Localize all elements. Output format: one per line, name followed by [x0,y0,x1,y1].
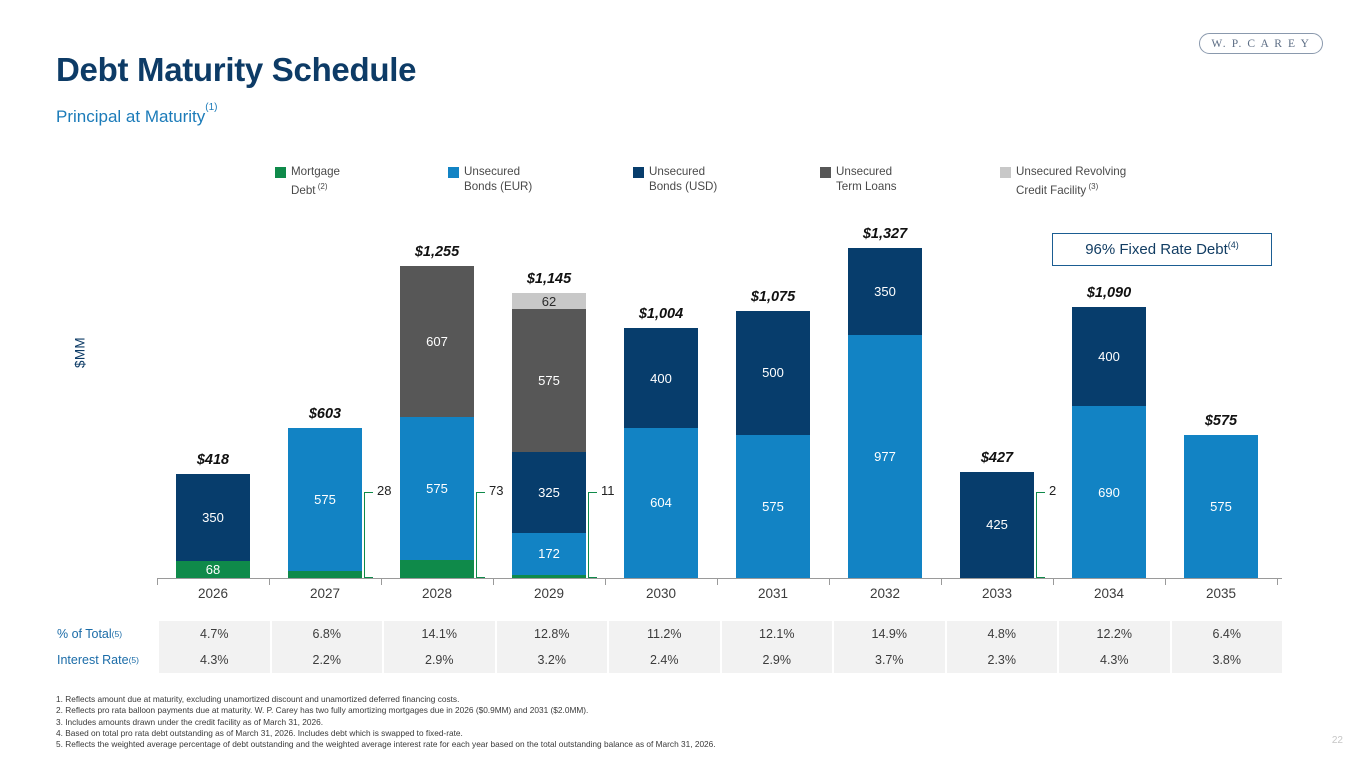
bar-segment-value-label: 500 [762,365,784,380]
table-cell: 2.2% [270,647,383,673]
stacked-bar[interactable]: 400690 [1072,307,1146,578]
legend-item: Unsecured RevolvingCredit Facility (3) [1000,165,1126,198]
table-cell: 12.8% [495,621,608,647]
stacked-bar[interactable]: 607575 [400,266,474,578]
bar-total-label: $427 [941,450,1053,466]
table-cell: 4.3% [157,647,270,673]
table-cell: 6.4% [1170,621,1283,647]
footnote-line: 4. Based on total pro rata debt outstand… [56,728,1236,739]
table-cell: 3.2% [495,647,608,673]
footnote-line: 3. Includes amounts drawn under the cred… [56,717,1236,728]
bar-segment[interactable]: 350 [848,248,922,335]
bar-segment-value-label: 425 [986,517,1008,532]
legend-item: UnsecuredTerm Loans [820,165,897,194]
callout-bracket-icon [1036,492,1045,578]
table-cell: 2.4% [607,647,720,673]
bar-group: 425$4272 [941,230,1053,578]
legend-item-label: UnsecuredBonds (EUR) [464,165,532,194]
callout-bracket-icon [364,492,373,578]
bar-segment[interactable]: 575 [400,417,474,560]
table-cell: 3.8% [1170,647,1283,673]
x-axis-tick [829,578,830,585]
table-cell: 12.1% [720,621,833,647]
bar-segment[interactable]: 977 [848,335,922,578]
bar-segment[interactable]: 690 [1072,406,1146,578]
bar-segment[interactable]: 575 [736,435,810,578]
legend-item-label: Unsecured RevolvingCredit Facility (3) [1016,165,1126,198]
legend-footnote-ref: (2) [316,182,328,191]
legend-item-label: MortgageDebt (2) [291,165,340,198]
x-axis [157,578,1282,586]
bar-segment[interactable] [400,560,474,578]
bar-segment-value-label: 68 [206,562,220,577]
bar-segment[interactable]: 575 [1184,435,1258,578]
bar-total-label: $1,327 [829,226,941,242]
bar-segment-value-label: 350 [202,510,224,525]
table-row-label: % of Total (5) [52,621,157,647]
bar-total-label: $1,075 [717,289,829,305]
bar-group: 400604$1,004 [605,230,717,578]
table-cell: 14.1% [382,621,495,647]
table-cell: 3.7% [832,647,945,673]
bar-group: 575$60328 [269,230,381,578]
x-axis-tick-label: 2032 [829,586,941,601]
bar-segment[interactable]: 325 [512,452,586,533]
table-row: % of Total (5)4.7%6.8%14.1%12.8%11.2%12.… [52,621,1282,647]
stacked-bar[interactable]: 575 [288,428,362,578]
bar-group: 607575$1,25573 [381,230,493,578]
bar-segment-value-label: 575 [762,499,784,514]
x-axis-tick-label: 2033 [941,586,1053,601]
bar-chart-plot-area: 35068$418575$60328607575$1,2557362575325… [157,230,1282,578]
table-cell: 4.8% [945,621,1058,647]
legend-swatch-icon [275,167,286,178]
bar-total-label: $575 [1165,413,1277,429]
footnote-line: 1. Reflects amount due at maturity, excl… [56,694,1236,705]
legend-item: UnsecuredBonds (USD) [633,165,717,194]
x-axis-tick [1053,578,1054,585]
x-axis-tick [269,578,270,585]
bar-total-label: $1,004 [605,306,717,322]
bar-segment[interactable]: 575 [288,428,362,571]
page-subtitle-footnote-ref: (1) [205,102,217,113]
bar-segment-value-label: 690 [1098,485,1120,500]
table-cell: 2.9% [382,647,495,673]
bar-segment[interactable]: 62 [512,293,586,308]
callout-bracket-icon [476,492,485,578]
x-axis-tick-label: 2030 [605,586,717,601]
stacked-bar[interactable]: 500575 [736,311,810,578]
legend-item-label: UnsecuredTerm Loans [836,165,897,194]
stacked-bar[interactable]: 400604 [624,328,698,578]
bar-segment-value-label: 325 [538,485,560,500]
bar-segment[interactable]: 500 [736,311,810,435]
table-row-footnote-ref: (5) [129,655,139,665]
bar-segment-value-label: 575 [426,481,448,496]
y-axis-label: $MM [73,323,88,383]
table-cell: 2.3% [945,647,1058,673]
bar-segment-value-label: 62 [542,294,556,309]
footnotes: 1. Reflects amount due at maturity, excl… [56,694,1236,750]
table-row-label: Interest Rate (5) [52,647,157,673]
bar-total-label: $1,255 [381,244,493,260]
x-axis-tick-label: 2031 [717,586,829,601]
bar-segment[interactable]: 400 [1072,307,1146,406]
table-cell: 4.3% [1057,647,1170,673]
x-axis-tick [717,578,718,585]
legend-swatch-icon [820,167,831,178]
bar-group: 35068$418 [157,230,269,578]
x-axis-tick-label: 2035 [1165,586,1277,601]
x-axis-tick-label: 2029 [493,586,605,601]
x-axis-tick-labels: 2026202720282029203020312032203320342035 [157,586,1282,608]
table-cell: 12.2% [1057,621,1170,647]
legend-swatch-icon [633,167,644,178]
x-axis-line [157,578,1282,579]
x-axis-tick [941,578,942,585]
table-cell: 14.9% [832,621,945,647]
stacked-bar[interactable]: 62575325172 [512,293,586,578]
x-axis-tick [493,578,494,585]
stacked-bar[interactable]: 350977 [848,248,922,578]
bar-segment[interactable]: 68 [176,561,250,578]
bar-segment-value-label: 575 [538,373,560,388]
bar-group: 500575$1,075 [717,230,829,578]
callout-bracket-icon [588,492,597,578]
legend-footnote-ref: (3) [1086,182,1098,191]
table-row: Interest Rate (5)4.3%2.2%2.9%3.2%2.4%2.9… [52,647,1282,673]
bar-segment[interactable]: 172 [512,533,586,576]
stacked-bar[interactable]: 425 [960,472,1034,578]
bar-segment[interactable]: 425 [960,472,1034,578]
summary-table: % of Total (5)4.7%6.8%14.1%12.8%11.2%12.… [52,621,1282,673]
table-cell: 4.7% [157,621,270,647]
bar-segment[interactable]: 607 [400,266,474,417]
stacked-bar[interactable]: 35068 [176,474,250,578]
x-axis-tick [1165,578,1166,585]
bar-total-label: $1,145 [493,271,605,287]
bar-segment-value-label: 575 [314,492,336,507]
bar-group: 575$575 [1165,230,1277,578]
table-cell: 2.9% [720,647,833,673]
bar-group: 62575325172$1,14511 [493,230,605,578]
bar-total-label: $603 [269,406,381,422]
bar-segment[interactable]: 400 [624,328,698,427]
bar-segment-value-label: 400 [1098,349,1120,364]
bar-segment-value-label: 607 [426,334,448,349]
page-number: 22 [1332,735,1343,746]
table-cell: 6.8% [270,621,383,647]
page-title: Debt Maturity Schedule [56,51,416,89]
x-axis-tick [381,578,382,585]
bar-group: 350977$1,327 [829,230,941,578]
bar-segment[interactable]: 604 [624,428,698,578]
bar-segment[interactable]: 575 [512,309,586,452]
bar-segment-value-label: 400 [650,371,672,386]
legend-item: UnsecuredBonds (EUR) [448,165,532,194]
company-logo: W. P. C A R E Y [1199,33,1323,54]
bar-group: 400690$1,090 [1053,230,1165,578]
x-axis-tick-label: 2034 [1053,586,1165,601]
stacked-bar[interactable]: 575 [1184,435,1258,578]
bar-segment[interactable] [288,571,362,578]
legend-swatch-icon [1000,167,1011,178]
x-axis-tick-label: 2028 [381,586,493,601]
x-axis-tick [1277,578,1278,585]
x-axis-tick-label: 2027 [269,586,381,601]
bar-segment-value-label: 350 [874,284,896,299]
x-axis-tick-label: 2026 [157,586,269,601]
x-axis-tick [157,578,158,585]
legend-item-label: UnsecuredBonds (USD) [649,165,717,194]
bar-segment-value-label: 172 [538,546,560,561]
legend-item: MortgageDebt (2) [275,165,340,198]
bar-segment-value-label: 977 [874,449,896,464]
page-subtitle-text: Principal at Maturity [56,107,205,126]
legend-swatch-icon [448,167,459,178]
footnote-line: 5. Reflects the weighted average percent… [56,739,1236,750]
table-row-footnote-ref: (5) [112,629,122,639]
table-cell: 11.2% [607,621,720,647]
bar-segment-value-label: 604 [650,495,672,510]
bar-segment[interactable]: 350 [176,474,250,561]
bar-total-label: $418 [157,452,269,468]
page-subtitle: Principal at Maturity(1) [56,107,218,127]
chart-legend: MortgageDebt (2)UnsecuredBonds (EUR)Unse… [275,165,1255,201]
bar-segment-value-label: 575 [1210,499,1232,514]
footnote-line: 2. Reflects pro rata balloon payments du… [56,705,1236,716]
x-axis-tick [605,578,606,585]
bar-total-label: $1,090 [1053,285,1165,301]
